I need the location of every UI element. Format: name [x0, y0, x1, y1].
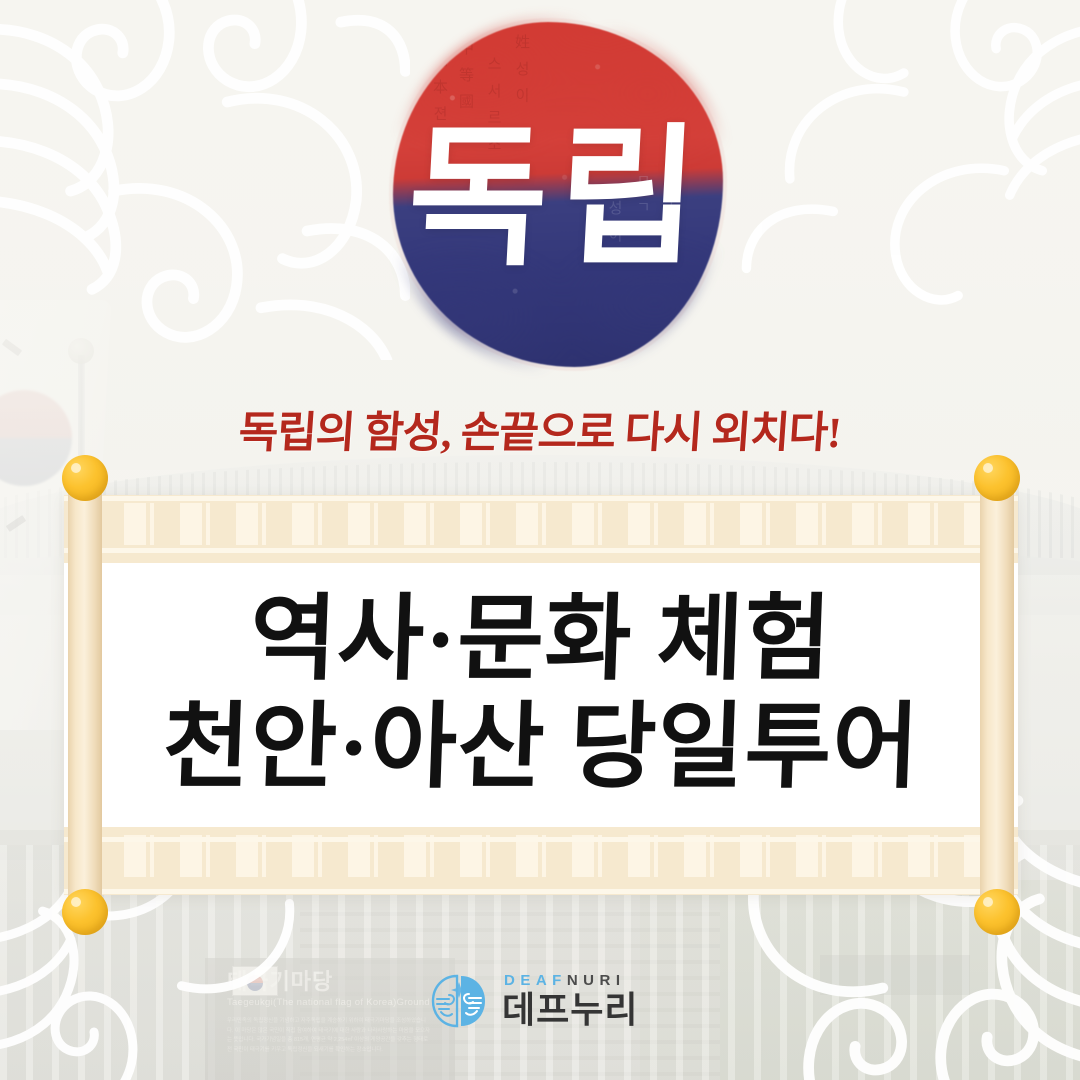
scroll-top-border [64, 495, 1018, 563]
poster-canvas: 태극기마당 Taegeukgi(The national flag of Kor… [0, 0, 1080, 1080]
scroll-banner: 역사·문화 체험 천안·아산 당일투어 [46, 455, 1036, 935]
scroll-paper: 역사·문화 체험 천안·아산 당일투어 [64, 495, 1018, 895]
scroll-finial-icon [62, 455, 108, 501]
brand-english-name: DEAFNURI [504, 973, 638, 988]
scroll-rod-left [68, 473, 102, 917]
scroll-finial-icon [974, 889, 1020, 935]
border-line [64, 837, 1018, 842]
scroll-headline-group: 역사·문화 체험 천안·아산 당일투어 [64, 563, 1018, 827]
border-line [64, 889, 1018, 894]
headline-line-1: 역사·문화 체험 [248, 590, 833, 692]
brand-en-primary: DEAF [504, 972, 567, 989]
scroll-finial-icon [974, 455, 1020, 501]
brand-wordmark: DEAFNURI 데프누리 [502, 973, 638, 1028]
brand-en-secondary: NURI [567, 972, 626, 989]
poster-tagline: 독립의 함성, 손끝으로 다시 외치다! [0, 398, 1080, 460]
brand-korean-name: 데프누리 [502, 992, 638, 1028]
border-line [64, 496, 1018, 501]
dokrip-emblem: 制 本 젼 中 等 國 스 서 르 소 모 姓 성 이 中 等 國 ㅁ ㄱ 성 … [393, 22, 723, 367]
two-hands-sign-icon [428, 968, 490, 1032]
scroll-bottom-border [64, 827, 1018, 895]
scroll-rod-right [980, 473, 1014, 917]
border-line [64, 548, 1018, 553]
scroll-finial-icon [62, 889, 108, 935]
emblem-word: 독립 [384, 26, 732, 371]
deafnuri-logo: DEAFNURI 데프누리 [428, 968, 638, 1032]
headline-line-2: 천안·아산 당일투어 [161, 698, 921, 800]
